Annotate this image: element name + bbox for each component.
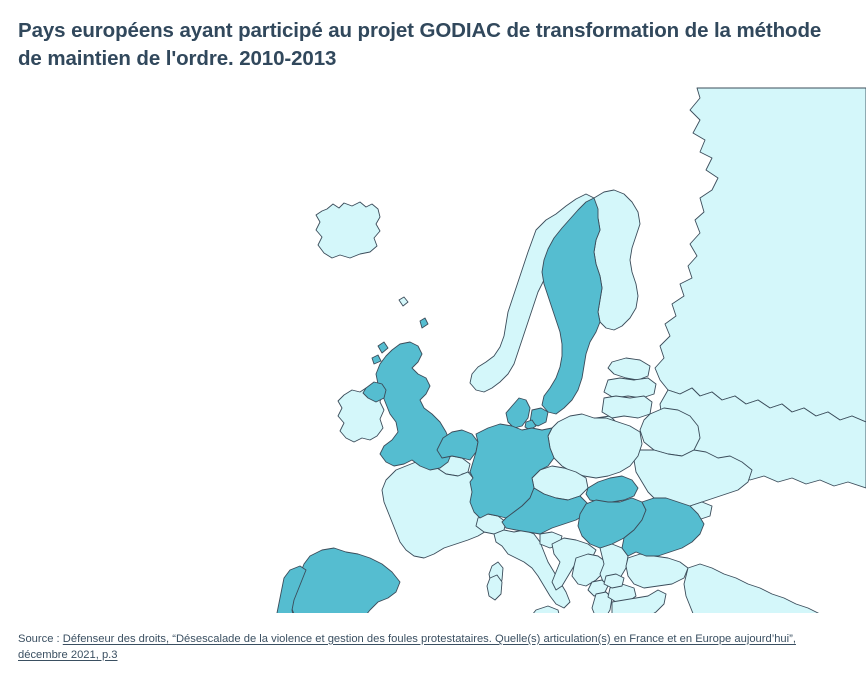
country-turkey: [684, 564, 866, 613]
country-shetland[interactable]: [420, 318, 428, 328]
country-iceland: [316, 202, 380, 258]
country-spain[interactable]: [288, 548, 400, 613]
country-russia: [655, 88, 866, 422]
map-figure: Pays européens ayant participé au projet…: [0, 0, 866, 673]
country-lithuania: [602, 396, 652, 418]
europe-map: [0, 78, 866, 625]
country-latvia: [604, 378, 656, 398]
map-svg: [0, 78, 866, 613]
country-finland: [594, 190, 640, 330]
country-sicily: [532, 606, 560, 613]
title-block: Pays européens ayant participé au projet…: [0, 0, 866, 78]
source-note: Source : Défenseur des droits, “Désescal…: [0, 626, 866, 673]
country-bulgaria: [626, 554, 688, 588]
country-slovakia[interactable]: [586, 476, 638, 502]
country-kosovo: [604, 574, 624, 588]
country-estonia: [608, 358, 650, 380]
page-title: Pays européens ayant participé au projet…: [18, 17, 846, 72]
country-sardinia: [487, 575, 502, 600]
country-faroe-islands: [399, 297, 408, 306]
source-link[interactable]: Défenseur des droits, “Désescalade de la…: [18, 633, 796, 661]
source-label: Source :: [18, 633, 63, 645]
